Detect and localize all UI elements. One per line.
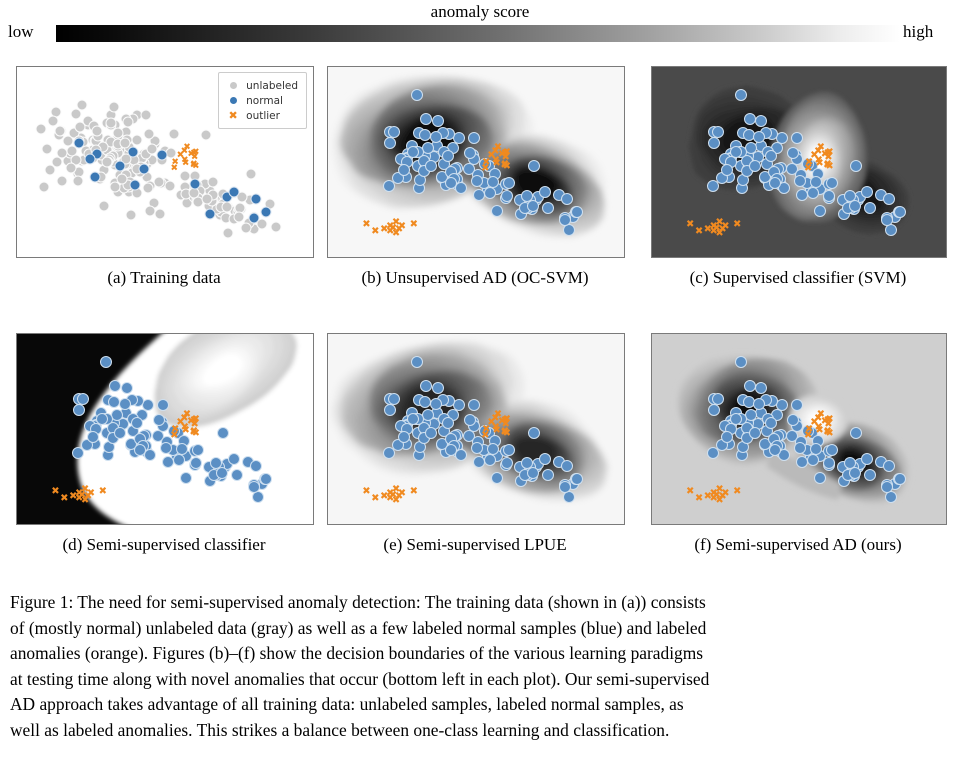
data-point-normal (114, 427, 126, 439)
data-point-normal (765, 150, 777, 162)
data-point-normal (471, 175, 483, 187)
data-point-normal (749, 427, 761, 439)
panel-semisupervised-classifier: ✖✖✖✖✖✖✖✖✖✖✖✖✖✖✖✖✖✖✖✖✖✖✖✖✖ (16, 333, 314, 525)
data-point-normal (521, 190, 533, 202)
data-point-unlabeled (98, 200, 109, 211)
legend-item-outlier: ✖ outlier (225, 108, 298, 123)
data-point-normal (131, 417, 143, 429)
data-point-normal (384, 137, 396, 149)
data-point-unlabeled (201, 130, 212, 141)
colorbar-low-label: low (8, 22, 34, 42)
data-point-unlabeled (125, 209, 136, 220)
data-point-normal (468, 132, 480, 144)
data-point-normal (712, 393, 724, 405)
data-point-normal (168, 425, 180, 437)
data-point-normal (130, 179, 141, 190)
data-point-normal (539, 453, 551, 465)
data-point-unlabeled (52, 157, 63, 168)
data-point-unlabeled (48, 115, 59, 126)
panel-supervised-classifier: ✖✖✖✖✖✖✖✖✖✖✖✖✖✖✖✖✖✖✖✖✖✖✖✖✖ (651, 66, 947, 258)
data-point-unlabeled (108, 101, 119, 112)
legend-marker-unlabeled (225, 79, 241, 93)
data-point-normal (894, 206, 906, 218)
data-point-normal (473, 456, 485, 468)
data-point-normal (881, 481, 893, 493)
data-point-unlabeled (202, 194, 213, 205)
data-point-normal (561, 460, 573, 472)
data-point-normal (210, 457, 222, 469)
data-point-unlabeled (110, 181, 121, 192)
data-point-normal (205, 208, 216, 219)
data-point-normal (849, 467, 861, 479)
data-point-normal (791, 399, 803, 411)
data-point-normal (190, 457, 202, 469)
data-point-normal (861, 186, 873, 198)
data-point-unlabeled (105, 117, 116, 128)
caption-panel-f: (f) Semi-supervised AD (ours) (651, 535, 945, 555)
data-point-normal (708, 404, 720, 416)
data-point-normal (87, 431, 99, 443)
legend-marker-outlier: ✖ (225, 109, 241, 123)
data-point-unlabeled (143, 128, 154, 139)
data-point-normal (721, 164, 733, 176)
data-point-normal (528, 427, 540, 439)
data-point-normal (248, 212, 259, 223)
data-point-normal (96, 413, 108, 425)
colorbar: anomaly score low high (0, 0, 960, 52)
data-point-normal (153, 414, 165, 426)
data-point-normal (217, 427, 229, 439)
data-point-normal (730, 146, 742, 158)
data-point-normal (844, 457, 856, 469)
panel-semisupervised-lpue: ✖✖✖✖✖✖✖✖✖✖✖✖✖✖✖✖✖✖✖✖✖✖✖✖✖ (327, 333, 625, 525)
data-point-normal (769, 444, 781, 456)
data-point-normal (189, 178, 200, 189)
data-point-normal (138, 163, 149, 174)
data-point-normal (250, 460, 262, 472)
data-point-normal (559, 481, 571, 493)
legend-item-normal: normal (225, 93, 298, 108)
data-point-unlabeled (123, 116, 134, 127)
legend-label-unlabeled: unlabeled (246, 79, 298, 93)
data-point-normal (484, 454, 496, 466)
data-point-normal (527, 200, 539, 212)
colorbar-title: anomaly score (0, 2, 960, 22)
legend-marker-normal (225, 94, 241, 108)
data-point-unlabeled (57, 175, 68, 186)
data-point-normal (119, 398, 131, 410)
data-point-normal (260, 473, 272, 485)
legend-item-unlabeled: unlabeled (225, 78, 298, 93)
data-point-normal (542, 469, 554, 481)
data-point-normal (231, 469, 243, 481)
data-point-normal (430, 131, 442, 143)
data-point-normal (420, 113, 432, 125)
data-point-unlabeled (101, 156, 112, 167)
data-point-normal (823, 190, 835, 202)
data-point-unlabeled (144, 206, 155, 217)
data-point-normal (735, 89, 747, 101)
data-point-normal (121, 382, 133, 394)
data-point-normal (407, 413, 419, 425)
data-point-normal (730, 413, 742, 425)
legend: unlabeled normal ✖ outlier (218, 72, 307, 129)
colorbar-gradient (56, 25, 900, 42)
data-point-normal (479, 158, 491, 170)
data-point-normal (134, 444, 146, 456)
data-point-normal (425, 427, 437, 439)
data-point-normal (810, 443, 822, 455)
legend-label-outlier: outlier (246, 109, 280, 123)
data-point-normal (501, 190, 513, 202)
data-point-normal (864, 202, 876, 214)
data-point-normal (802, 158, 814, 170)
data-point-normal (471, 442, 483, 454)
data-point-normal (479, 425, 491, 437)
data-point-unlabeled (35, 123, 46, 134)
data-point-unlabeled (180, 171, 191, 182)
figure-caption-line: at testing time along with novel anomali… (10, 667, 954, 693)
data-point-normal (810, 176, 822, 188)
data-point-unlabeled (73, 176, 84, 187)
data-point-normal (100, 356, 112, 368)
data-point-normal (160, 442, 172, 454)
data-point-normal (826, 444, 838, 456)
data-point-normal (823, 457, 835, 469)
data-point-unlabeled (143, 183, 154, 194)
data-point-normal (850, 427, 862, 439)
caption-panel-d: (d) Semi-supervised classifier (16, 535, 312, 555)
data-point-unlabeled (71, 108, 82, 119)
data-point-normal (445, 444, 457, 456)
figure-caption-line: well as labeled anomalies. This strikes … (10, 718, 954, 744)
panel-training-data: ✖✖✖✖✖✖✖✖✖✖✖✖✖✖ unlabeled normal ✖ outlie… (16, 66, 314, 258)
data-point-normal (473, 189, 485, 201)
data-point-normal (248, 481, 260, 493)
data-point-normal (539, 186, 551, 198)
data-point-normal (398, 431, 410, 443)
data-point-normal (807, 454, 819, 466)
data-point-normal (487, 176, 499, 188)
data-point-normal (521, 457, 533, 469)
data-point-unlabeled (233, 212, 244, 223)
data-point-unlabeled (271, 221, 282, 232)
data-point-normal (157, 399, 169, 411)
data-point-normal (849, 200, 861, 212)
colorbar-high-label: high (903, 22, 933, 42)
data-point-normal (173, 454, 185, 466)
data-point-normal (432, 115, 444, 127)
data-point-normal (814, 472, 826, 484)
data-point-normal (844, 190, 856, 202)
data-point-normal (398, 164, 410, 176)
data-point-normal (109, 380, 121, 392)
data-point-unlabeled (65, 162, 76, 173)
data-point-normal (735, 356, 747, 368)
data-point-normal (755, 115, 767, 127)
data-point-unlabeled (241, 222, 252, 233)
data-point-normal (468, 399, 480, 411)
data-point-normal (432, 382, 444, 394)
data-point-normal (794, 442, 806, 454)
data-point-normal (826, 177, 838, 189)
data-point-unlabeled (41, 143, 52, 154)
figure-caption-line: Figure 1: The need for semi-supervised a… (10, 590, 954, 616)
data-point-normal (794, 175, 806, 187)
data-point-normal (425, 160, 437, 172)
data-point-normal (384, 404, 396, 416)
data-point-unlabeled (223, 228, 234, 239)
data-point-unlabeled (119, 137, 130, 148)
data-point-normal (708, 137, 720, 149)
data-point-normal (503, 444, 515, 456)
data-point-normal (407, 146, 419, 158)
data-point-normal (487, 443, 499, 455)
data-point-normal (388, 126, 400, 138)
data-point-normal (442, 417, 454, 429)
data-point-normal (883, 460, 895, 472)
data-point-normal (753, 398, 765, 410)
data-point-normal (73, 137, 84, 148)
data-point-normal (89, 171, 100, 182)
data-point-normal (77, 393, 89, 405)
data-point-normal (176, 443, 188, 455)
data-point-unlabeled (222, 202, 233, 213)
legend-label-normal: normal (246, 94, 283, 108)
data-point-normal (228, 187, 239, 198)
data-point-normal (442, 150, 454, 162)
caption-panel-e: (e) Semi-supervised LPUE (327, 535, 623, 555)
data-point-normal (561, 193, 573, 205)
data-point-normal (73, 404, 85, 416)
data-point-normal (571, 473, 583, 485)
data-point-normal (755, 382, 767, 394)
data-point-unlabeled (74, 121, 85, 132)
data-point-unlabeled (208, 177, 219, 188)
data-point-unlabeled (62, 136, 73, 147)
data-point-normal (228, 453, 240, 465)
data-point-normal (791, 132, 803, 144)
data-point-normal (85, 154, 96, 165)
data-point-unlabeled (245, 168, 256, 179)
data-point-unlabeled (164, 180, 175, 191)
data-point-normal (712, 126, 724, 138)
data-point-normal (749, 160, 761, 172)
data-point-normal (883, 193, 895, 205)
data-point-normal (807, 187, 819, 199)
data-point-normal (881, 214, 893, 226)
data-point-normal (814, 205, 826, 217)
data-point-unlabeled (141, 110, 152, 121)
data-point-normal (769, 177, 781, 189)
data-point-normal (503, 177, 515, 189)
caption-panel-b: (b) Unsupervised AD (OC-SVM) (327, 268, 623, 288)
data-point-normal (128, 146, 139, 157)
figure-caption-line: AD approach takes advantage of all train… (10, 692, 954, 718)
data-point-normal (721, 431, 733, 443)
data-point-normal (753, 131, 765, 143)
data-point-normal (464, 147, 476, 159)
caption-panel-c: (c) Supervised classifier (SVM) (651, 268, 945, 288)
figure-caption-line: of (mostly normal) unlabeled data (gray)… (10, 616, 954, 642)
data-point-normal (850, 160, 862, 172)
data-point-unlabeled (54, 126, 65, 137)
data-point-normal (484, 187, 496, 199)
data-point-normal (744, 113, 756, 125)
data-point-normal (115, 160, 126, 171)
panel-unsupervised-ad: ✖✖✖✖✖✖✖✖✖✖✖✖✖✖✖✖✖✖✖✖✖✖✖✖✖ (327, 66, 625, 258)
data-point-normal (192, 444, 204, 456)
data-point-normal (464, 414, 476, 426)
data-point-normal (802, 425, 814, 437)
data-point-normal (445, 177, 457, 189)
data-point-normal (180, 472, 192, 484)
panel-semisupervised-ad-ours: ✖✖✖✖✖✖✖✖✖✖✖✖✖✖✖✖✖✖✖✖✖✖✖✖✖ (651, 333, 947, 525)
data-point-unlabeled (39, 181, 50, 192)
data-point-normal (501, 457, 513, 469)
data-point-normal (388, 393, 400, 405)
data-point-normal (861, 453, 873, 465)
data-point-unlabeled (92, 126, 103, 137)
data-point-normal (542, 202, 554, 214)
data-point-normal (162, 456, 174, 468)
caption-panel-a: (a) Training data (16, 268, 312, 288)
data-point-unlabeled (155, 208, 166, 219)
data-point-normal (411, 89, 423, 101)
data-point-normal (491, 472, 503, 484)
data-point-normal (559, 214, 571, 226)
data-point-normal (420, 380, 432, 392)
data-point-normal (157, 150, 168, 161)
figure-caption: Figure 1: The need for semi-supervised a… (10, 590, 954, 744)
data-point-normal (864, 469, 876, 481)
figure-caption-line: anomalies (orange). Figures (b)–(f) show… (10, 641, 954, 667)
data-point-normal (571, 206, 583, 218)
data-point-normal (216, 467, 228, 479)
data-point-normal (261, 206, 272, 217)
data-point-normal (411, 356, 423, 368)
data-point-normal (528, 160, 540, 172)
data-point-normal (894, 473, 906, 485)
data-point-normal (250, 194, 261, 205)
data-point-normal (765, 417, 777, 429)
data-point-unlabeled (132, 134, 143, 145)
data-point-normal (430, 398, 442, 410)
data-point-normal (527, 467, 539, 479)
data-point-normal (787, 414, 799, 426)
data-point-unlabeled (168, 128, 179, 139)
data-point-normal (744, 380, 756, 392)
data-point-normal (491, 205, 503, 217)
data-point-normal (787, 147, 799, 159)
